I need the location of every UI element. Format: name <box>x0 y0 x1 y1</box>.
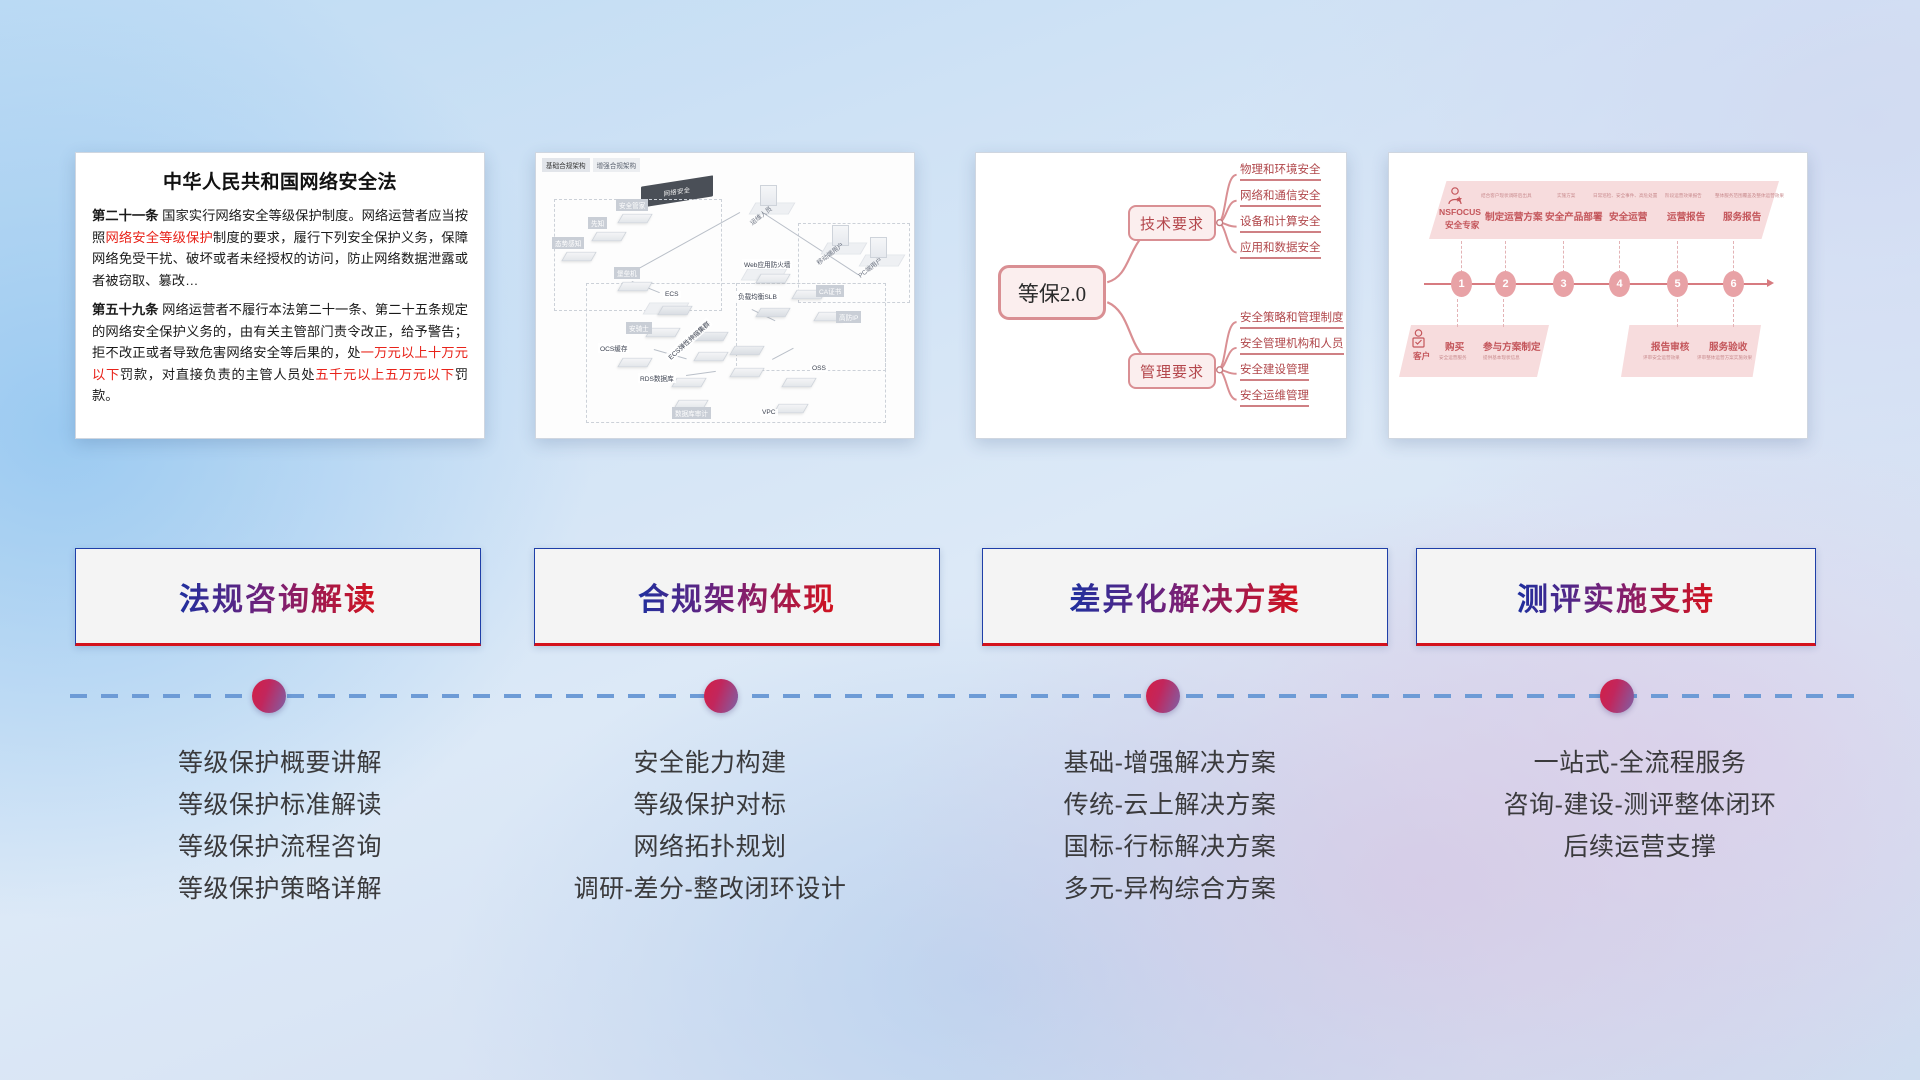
step-connector <box>1677 299 1678 327</box>
mindmap-branch-technical: 技术要求 <box>1128 205 1216 241</box>
mindmap-diagram: 等保2.0 技术要求 管理要求 物理和环境安全 网络和通信安全 设备和计算安全 … <box>976 153 1346 438</box>
step-connector <box>1461 241 1462 273</box>
mindmap-leaf: 安全运维管理 <box>1240 387 1309 407</box>
step-title: 服务报告 <box>1723 209 1761 223</box>
list-item: 多元-异构综合方案 <box>930 868 1410 910</box>
node-plate <box>755 308 790 317</box>
expert-icon <box>1447 187 1463 205</box>
tab-enhanced-architecture[interactable]: 增强合规架构 <box>593 158 641 172</box>
step-title: 运营报告 <box>1667 209 1705 223</box>
law-document: 中华人民共和国网络安全法 第二十一条 国家实行网络安全等级保护制度。网络运营者应… <box>76 153 484 425</box>
bottom-step-title: 参与方案制定 <box>1483 339 1541 353</box>
customer-icon <box>1411 329 1426 349</box>
brand-subtitle: 安全专家 <box>1445 219 1479 231</box>
node-bastion-host: 堡垒机 <box>620 279 650 294</box>
step-connector <box>1563 241 1564 273</box>
article-59-highlight-2: 五千元以上五万元以下 <box>315 367 455 382</box>
step-connector <box>1619 241 1620 273</box>
node-plate <box>657 306 692 315</box>
headline-label: 合规架构体现 <box>638 574 836 619</box>
node-label: ECS <box>663 291 681 298</box>
thumbnail-architecture-card[interactable]: 基础合规架构 增强合规架构 网络安全 <box>535 152 915 439</box>
bottom-step-title: 购买 <box>1445 339 1464 353</box>
timeline-dashed-line <box>70 694 1854 698</box>
timeline-step-dot: 2 <box>1495 271 1516 297</box>
node-plate <box>561 252 596 261</box>
node-plate <box>671 378 706 387</box>
node-ecs: ECS <box>660 303 690 318</box>
list-item: 基础-增强解决方案 <box>930 742 1410 784</box>
node-ecs-cluster-c <box>732 343 762 358</box>
step-subtitle: 结合客户现状调研后出具 <box>1481 193 1532 199</box>
list-item: 等级保护概要讲解 <box>40 742 520 784</box>
node-ecs-cluster-d <box>732 365 762 380</box>
node-label: 先知 <box>588 217 607 229</box>
node-slb: 负载均衡SLB <box>758 305 788 320</box>
node-label: OSS <box>810 365 828 372</box>
article-21-label: 第二十一条 <box>92 208 158 223</box>
node-plate <box>755 274 790 283</box>
timeline-step-dot: 5 <box>1667 271 1688 297</box>
step-title: 制定运营方案 <box>1485 209 1543 223</box>
step-connector <box>1503 299 1504 327</box>
node-plate <box>617 214 652 223</box>
article-21-highlight: 网络安全等级保护 <box>105 230 212 245</box>
node-plate <box>591 232 626 241</box>
mindmap-leaf: 设备和计算安全 <box>1240 213 1321 233</box>
list-item: 等级保护标准解读 <box>40 784 520 826</box>
bottom-step-title: 服务验收 <box>1709 339 1747 353</box>
node-plate <box>773 404 808 413</box>
timeline-step-dot: 1 <box>1451 271 1472 297</box>
step-connector <box>1457 299 1458 327</box>
node-database-audit: 数据库审计 <box>676 397 706 412</box>
list-item: 后续运营支撑 <box>1400 826 1880 868</box>
node-label: CA证书 <box>816 285 844 297</box>
node-anti-ddos-ip: 高防IP <box>816 309 846 324</box>
node-anqishi: 安骑士 <box>648 325 678 340</box>
mindmap-leaf: 安全策略和管理制度 <box>1240 309 1344 329</box>
list-item: 一站式-全流程服务 <box>1400 742 1880 784</box>
architecture-tabs: 基础合规架构 增强合规架构 <box>542 158 640 172</box>
list-item: 安全能力构建 <box>470 742 950 784</box>
mindmap-leaf: 网络和通信安全 <box>1240 187 1321 207</box>
timeline-axis <box>1424 283 1769 285</box>
timeline-dot-4 <box>1600 679 1634 713</box>
law-title: 中华人民共和国网络安全法 <box>92 167 468 194</box>
list-item: 等级保护对标 <box>470 784 950 826</box>
bottom-step-subtitle: 提供基本现状信息 <box>1483 355 1520 361</box>
customer-label: 客户 <box>1413 350 1430 362</box>
article-59-mid: 罚款，对直接负责的主管人员处 <box>120 367 315 382</box>
headline-label: 差异化解决方案 <box>1070 574 1301 619</box>
step-subtitle: 整体服务范围覆盖及整体运营效果 <box>1715 193 1784 199</box>
step-subtitle: 实施方案 <box>1557 193 1575 199</box>
node-label: Web应用防火墙 <box>742 259 792 269</box>
mindmap-branch-management: 管理要求 <box>1128 353 1216 389</box>
bottom-step-subtitle: 安全运营服务 <box>1439 355 1467 361</box>
mindmap-leaf: 安全建设管理 <box>1240 361 1309 381</box>
node-xianzhi: 先知 <box>594 229 624 244</box>
bullet-column-solution: 基础-增强解决方案 传统-云上解决方案 国标-行标解决方案 多元-异构综合方案 <box>930 742 1410 910</box>
step-connector <box>1733 241 1734 273</box>
headline-box-differentiated-solution[interactable]: 差异化解决方案 <box>982 548 1388 646</box>
bullet-column-assessment: 一站式-全流程服务 咨询-建设-测评整体闭环 后续运营支撑 <box>1400 742 1880 868</box>
step-subtitle: 日常巡检、安全事件、高危处置 <box>1593 193 1657 199</box>
tab-basic-architecture[interactable]: 基础合规架构 <box>542 158 590 172</box>
slide-canvas: 中华人民共和国网络安全法 第二十一条 国家实行网络安全等级保护制度。网络运营者应… <box>0 0 1920 1080</box>
node-ocs-cache: OCS缓存 <box>620 355 650 370</box>
headline-box-regulation-consulting[interactable]: 法规咨询解读 <box>75 548 481 646</box>
list-item: 调研-差分-整改闭环设计 <box>470 868 950 910</box>
timeline-step-dot: 6 <box>1723 271 1744 297</box>
node-label: VPC <box>760 409 778 416</box>
brand-name: NSFOCUS <box>1439 207 1481 217</box>
thumbnail-row: 中华人民共和国网络安全法 第二十一条 国家实行网络安全等级保护制度。网络运营者应… <box>0 152 1920 444</box>
step-title: 安全产品部署 <box>1545 209 1603 223</box>
bottom-step-subtitle: 评审整体运营方案实施效果 <box>1697 355 1752 361</box>
node-ca-certificate: CA证书 <box>794 287 824 302</box>
bottom-step-subtitle: 评审安全运营效果 <box>1643 355 1680 361</box>
law-article-21: 第二十一条 国家实行网络安全等级保护制度。网络运营者应当按照网络安全等级保护制度… <box>92 205 468 291</box>
headline-box-compliance-architecture[interactable]: 合规架构体现 <box>534 548 940 646</box>
node-security-butler: 安全管家 <box>620 211 650 226</box>
list-item: 咨询-建设-测评整体闭环 <box>1400 784 1880 826</box>
cloud-architecture-diagram: 基础合规架构 增强合规架构 网络安全 <box>536 153 914 438</box>
node-label: RDS数据库 <box>638 373 676 383</box>
mindmap-leaf: 安全管理机构和人员 <box>1240 335 1344 355</box>
step-title: 安全运营 <box>1609 209 1647 223</box>
node-oss: OSS <box>784 375 814 390</box>
timeline-dot-2 <box>704 679 738 713</box>
node-rds-database: RDS数据库 <box>674 375 704 390</box>
list-item: 传统-云上解决方案 <box>930 784 1410 826</box>
headline-row: 法规咨询解读 合规架构体现 差异化解决方案 测评实施支持 <box>0 548 1920 648</box>
node-label: 堡垒机 <box>614 267 640 279</box>
step-subtitle: 阶段运营效果报告 <box>1665 193 1702 199</box>
mindmap-leaf: 物理和环境安全 <box>1240 161 1321 181</box>
node-label: OCS缓存 <box>598 343 629 353</box>
node-plate <box>729 368 764 377</box>
mindmap-leaf: 应用和数据安全 <box>1240 239 1321 259</box>
timeline-step-dot: 4 <box>1609 271 1630 297</box>
node-vpc: VPC <box>776 401 806 416</box>
list-item: 网络拓扑规划 <box>470 826 950 868</box>
list-item: 国标-行标解决方案 <box>930 826 1410 868</box>
node-label: 数据库审计 <box>672 407 711 419</box>
node-ecs-cluster-b: ECS弹性伸缩集群 <box>696 349 726 364</box>
node-operations-staff <box>760 185 777 206</box>
node-label: 安全管家 <box>616 199 648 211</box>
article-59-label: 第五十九条 <box>92 302 158 317</box>
node-label: 安骑士 <box>626 322 652 334</box>
step-connector <box>1733 299 1734 327</box>
node-label: 高防IP <box>836 311 861 323</box>
mindmap-root: 等保2.0 <box>998 265 1106 320</box>
node-label: 负载均衡SLB <box>736 291 779 301</box>
step-connector <box>1505 241 1506 273</box>
thumbnail-law-card[interactable]: 中华人民共和国网络安全法 第二十一条 国家实行网络安全等级保护制度。网络运营者应… <box>75 152 485 439</box>
thumbnail-mindmap-card[interactable]: 等保2.0 技术要求 管理要求 物理和环境安全 网络和通信安全 设备和计算安全 … <box>975 152 1347 439</box>
node-situational-awareness: 态势感知 <box>564 249 594 264</box>
nsfocus-timeline-diagram: NSFOCUS 安全专家 客户 制定运营方案 结合客户现状调研后出具 安全产品部… <box>1389 153 1807 438</box>
list-item: 等级保护策略详解 <box>40 868 520 910</box>
node-web-application-firewall: Web应用防火墙 <box>758 271 788 286</box>
node-plate <box>781 378 816 387</box>
thumbnail-nsfocus-card[interactable]: NSFOCUS 安全专家 客户 制定运营方案 结合客户现状调研后出具 安全产品部… <box>1388 152 1808 439</box>
timeline-dot-3 <box>1146 679 1180 713</box>
bottom-step-title: 报告审核 <box>1651 339 1689 353</box>
list-item: 等级保护流程咨询 <box>40 826 520 868</box>
node-plate <box>693 352 728 361</box>
node-plate <box>617 358 652 367</box>
timeline-step-dot: 3 <box>1553 271 1574 297</box>
headline-label: 测评实施支持 <box>1517 574 1715 619</box>
headline-label: 法规咨询解读 <box>179 574 377 619</box>
headline-box-assessment-support[interactable]: 测评实施支持 <box>1416 548 1816 646</box>
bullet-column-architecture: 安全能力构建 等级保护对标 网络拓扑规划 调研-差分-整改闭环设计 <box>470 742 950 910</box>
node-plate <box>729 346 764 355</box>
law-article-59: 第五十九条 网络运营者不履行本法第二十一条、第二十五条规定的网络安全保护义务的，… <box>92 299 468 407</box>
node-plate <box>617 282 652 291</box>
node-label: 态势感知 <box>552 237 584 249</box>
timeline-dot-1 <box>252 679 286 713</box>
timeline-arrow-icon <box>1767 279 1774 287</box>
step-connector <box>1677 241 1678 273</box>
bullet-column-regulation: 等级保护概要讲解 等级保护标准解读 等级保护流程咨询 等级保护策略详解 <box>40 742 520 910</box>
